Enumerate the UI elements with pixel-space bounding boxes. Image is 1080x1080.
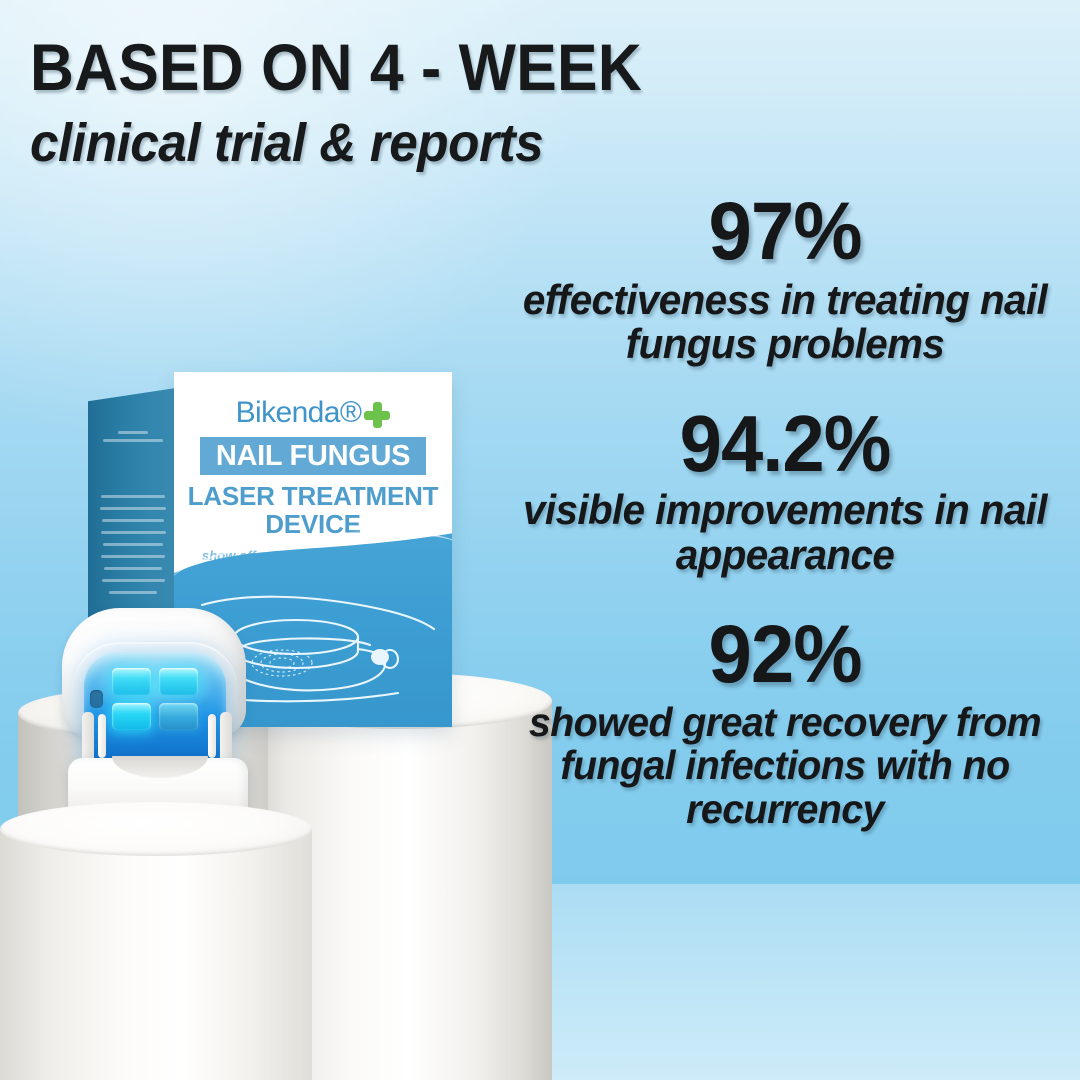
promo-graphic: BASED ON 4 - WEEK clinical trial & repor…: [0, 0, 1080, 1080]
stat-item: 97% effectiveness in treating nail fungu…: [500, 190, 1070, 367]
laser-led: [159, 703, 198, 730]
stat-description: showed great recovery from fungal infect…: [511, 701, 1058, 831]
pedestal-front: [0, 828, 312, 1080]
brand-row: Bikenda®: [174, 396, 452, 430]
green-medical-cross-icon: [364, 402, 390, 428]
product-category-label: NAIL FUNGUS: [216, 440, 410, 473]
stat-item: 92% showed great recovery from fungal in…: [500, 613, 1070, 831]
side-panel-heading: [100, 426, 166, 447]
stat-description: visible improvements in nail appearance: [511, 488, 1058, 577]
laser-led: [159, 668, 198, 695]
device-port-icon: [90, 690, 103, 708]
stat-value: 92%: [514, 613, 1056, 697]
statistics-list: 97% effectiveness in treating nail fungu…: [500, 190, 1070, 831]
device-base-notch: [112, 756, 208, 778]
headline-block: BASED ON 4 - WEEK clinical trial & repor…: [30, 34, 790, 170]
page-subtitle: clinical trial & reports: [30, 116, 752, 170]
product-type-label: LASER TREATMENT DEVICE: [174, 482, 452, 538]
led-array: [112, 668, 198, 730]
stat-value: 97%: [514, 190, 1056, 274]
pedestal-front-body: [0, 828, 312, 1080]
device-prong-right: [208, 714, 216, 758]
laser-led: [112, 668, 151, 695]
laser-led: [112, 703, 151, 730]
page-title: BASED ON 4 - WEEK: [30, 34, 729, 100]
brand-name: Bikenda®: [236, 396, 362, 430]
stat-item: 94.2% visible improvements in nail appea…: [500, 403, 1070, 578]
product-category-banner: NAIL FUNGUS: [200, 437, 426, 475]
device-prong-left: [98, 714, 106, 758]
pedestal-front-top: [0, 802, 312, 856]
stat-value: 94.2%: [514, 403, 1056, 485]
stat-description: effectiveness in treating nail fungus pr…: [511, 278, 1058, 367]
side-panel-paragraph: [98, 486, 168, 603]
